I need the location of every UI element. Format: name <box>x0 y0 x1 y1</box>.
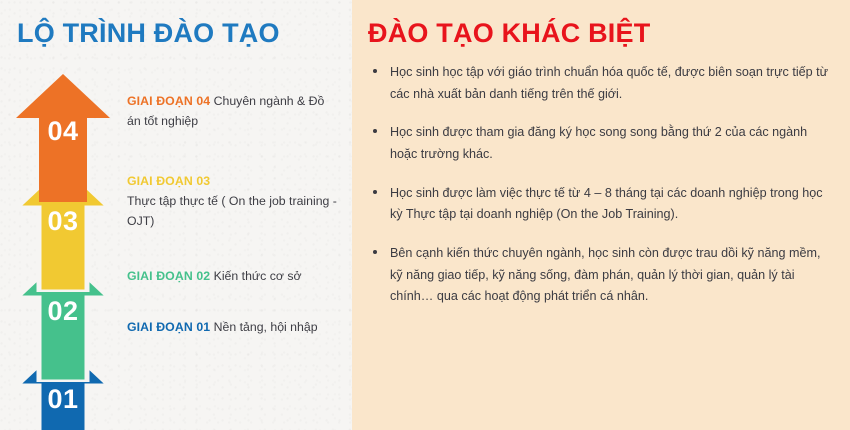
stage-description-04: GIAI ĐOẠN 04 Chuyên ngành & Đồ án tốt ng… <box>127 92 339 132</box>
list-item-text: Bên cạnh kiến thức chuyên ngành, học sin… <box>390 246 820 303</box>
stage-number-04: 04 <box>13 116 113 147</box>
stage-number-02: 02 <box>13 296 113 327</box>
list-item: Học sinh được làm việc thực tế từ 4 – 8 … <box>366 183 836 226</box>
stage-label-04: GIAI ĐOẠN 04 <box>127 94 210 108</box>
training-roadmap-slide: LỘ TRÌNH ĐÀO TẠO 04 03 0 <box>0 0 850 430</box>
list-item: Bên cạnh kiến thức chuyên ngành, học sin… <box>366 243 836 308</box>
bullet-dot-icon <box>373 190 377 194</box>
left-panel-training-roadmap: LỘ TRÌNH ĐÀO TẠO 04 03 0 <box>0 0 352 430</box>
stage-body-02: Kiến thức cơ sở <box>210 269 301 283</box>
stage-description-03: GIAI ĐOẠN 03Thực tập thực tế ( On the jo… <box>127 172 339 232</box>
list-item-text: Học sinh được tham gia đăng ký học song … <box>390 125 807 161</box>
left-panel-title: LỘ TRÌNH ĐÀO TẠO <box>17 18 280 49</box>
stage-number-03: 03 <box>13 206 113 237</box>
list-item: Học sinh học tập với giáo trình chuẩn hó… <box>366 62 836 105</box>
right-panel-title: ĐÀO TẠO KHÁC BIỆT <box>368 18 650 49</box>
stage-number-01: 01 <box>13 384 113 415</box>
stage-body-01: Nền tảng, hội nhập <box>210 320 317 334</box>
stage-description-01: GIAI ĐOẠN 01 Nền tảng, hội nhập <box>127 318 339 338</box>
stage-label-02: GIAI ĐOẠN 02 <box>127 269 210 283</box>
stage-body-03: Thực tập thực tế ( On the job training -… <box>127 194 337 228</box>
list-item-text: Học sinh học tập với giáo trình chuẩn hó… <box>390 65 828 101</box>
stage-label-03: GIAI ĐOẠN 03 <box>127 172 339 192</box>
stage-arrow-stack: 04 03 02 01 <box>13 72 113 430</box>
stage-description-02: GIAI ĐOẠN 02 Kiến thức cơ sở <box>127 267 339 287</box>
stage-label-01: GIAI ĐOẠN 01 <box>127 320 210 334</box>
bullet-dot-icon <box>373 129 377 133</box>
right-panel-differentiated-training: ĐÀO TẠO KHÁC BIỆT Học sinh học tập với g… <box>352 0 850 430</box>
list-item: Học sinh được tham gia đăng ký học song … <box>366 122 836 165</box>
bullet-dot-icon <box>373 69 377 73</box>
benefits-list: Học sinh học tập với giáo trình chuẩn hó… <box>366 62 836 325</box>
bullet-dot-icon <box>373 250 377 254</box>
stage-arrow-04: 04 <box>13 72 113 202</box>
list-item-text: Học sinh được làm việc thực tế từ 4 – 8 … <box>390 186 823 222</box>
